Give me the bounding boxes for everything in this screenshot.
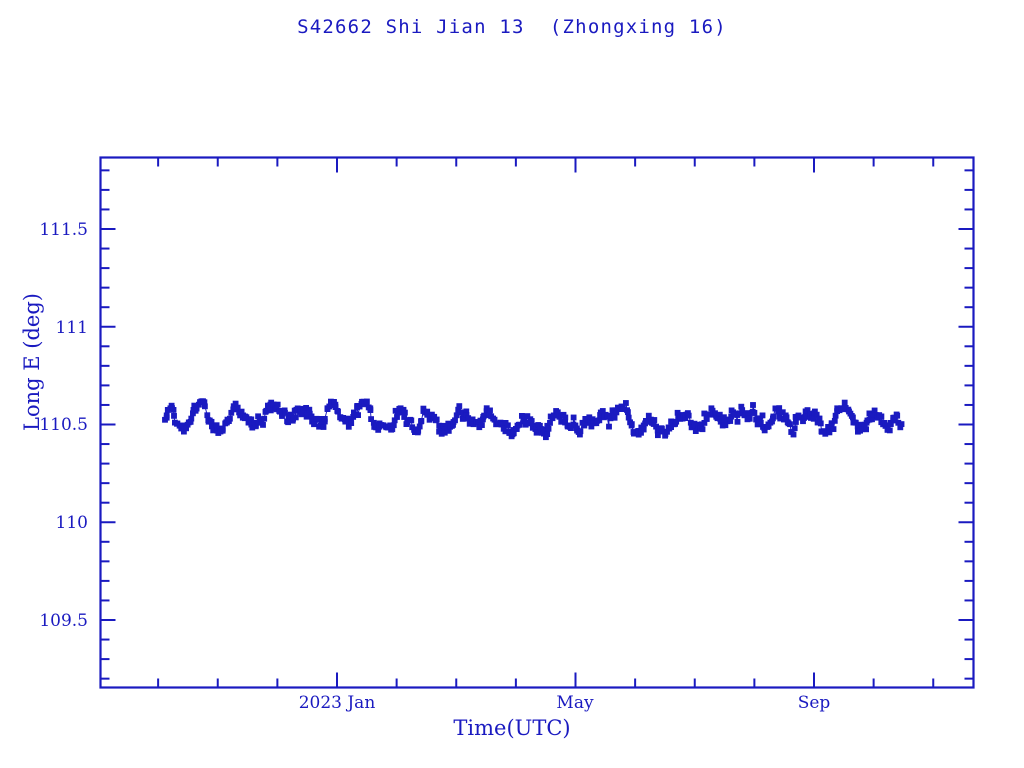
data-series-longitude: [162, 399, 904, 440]
plot-area: [0, 0, 1024, 768]
chart-container: S42662 Shi Jian 13 (Zhongxing 16) Long E…: [0, 0, 1024, 768]
